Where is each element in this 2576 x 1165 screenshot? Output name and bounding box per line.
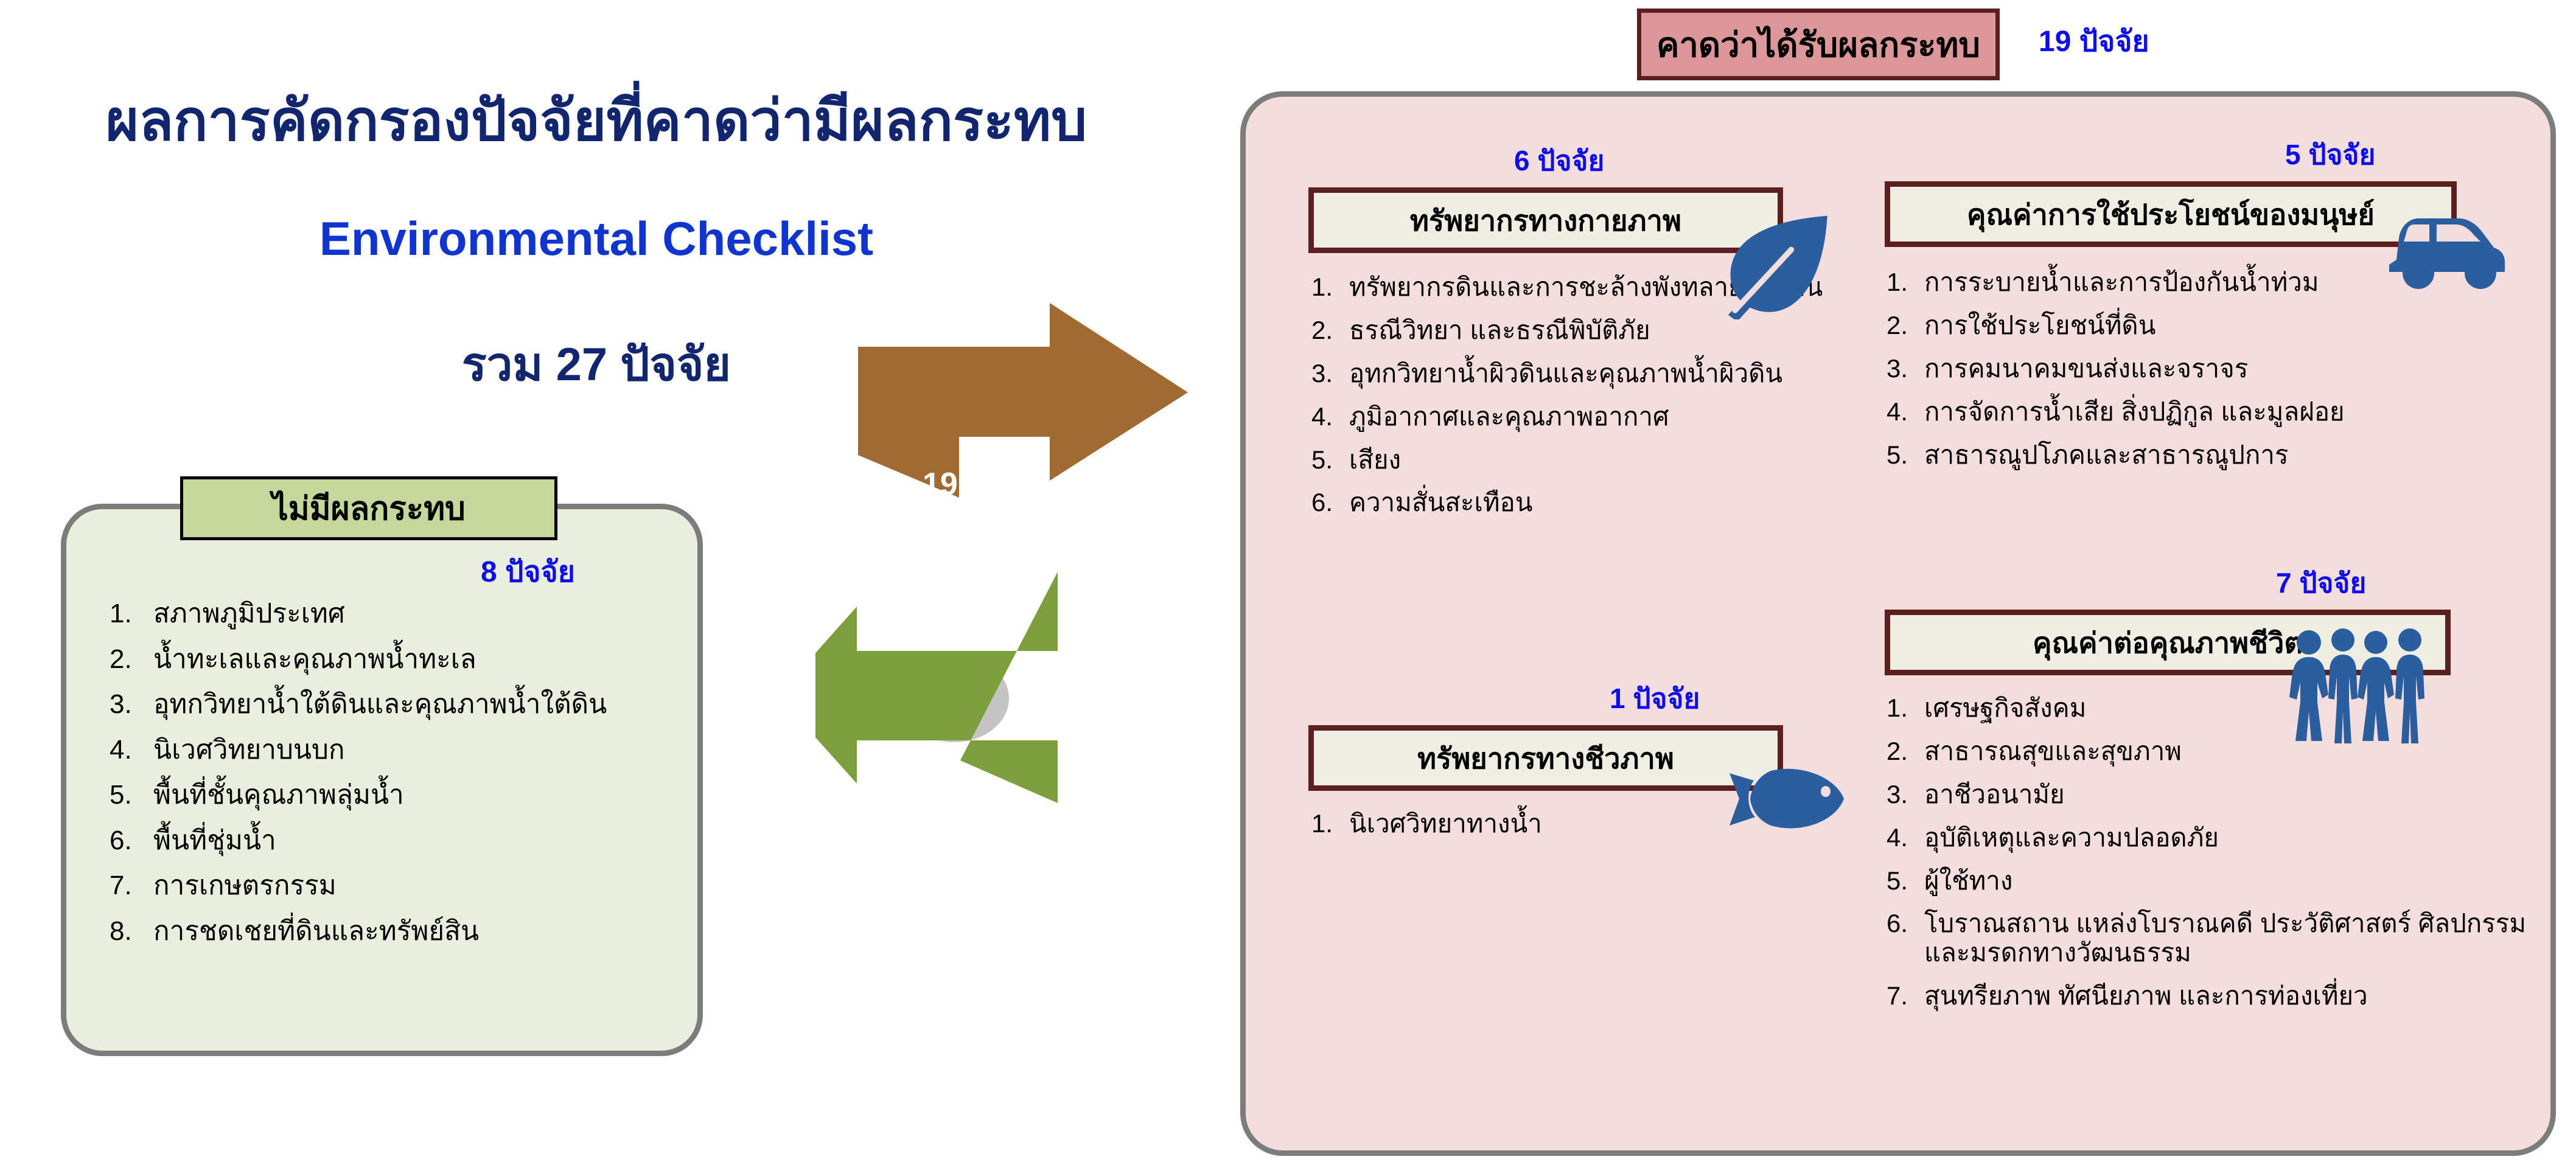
list-item: 5.ผู้ใช้ทาง — [1887, 866, 2544, 895]
list-item: 4.อุบัติเหตุและความปลอดภัย — [1887, 823, 2544, 852]
no-impact-header: ไม่มีผลกระทบ — [180, 476, 557, 540]
list-item-number: 3. — [1887, 354, 1924, 383]
quality-list: 1.เศรษฐกิจสังคม 2.สาธารณสุขและสุขภาพ 3.อ… — [1887, 694, 2544, 1024]
list-item: 5.พื้นที่ชั้นคุณภาพลุ่มน้ำ — [110, 781, 657, 810]
no-impact-count-badge: 8 ปัจจัย — [481, 549, 575, 595]
impact-header: คาดว่าได้รับผลกระทบ — [1637, 9, 2000, 80]
arrow-top-label: 19 ปัจจัย — [923, 458, 1042, 509]
physical-category-box: ทรัพยากรทางกายภาพ — [1308, 187, 1783, 253]
list-item: 2.น้ำทะเลและคุณภาพน้ำทะเล — [110, 645, 657, 674]
list-item: 4.นิเวศวิทยาบนบก — [110, 736, 657, 765]
list-item-number: 3. — [1311, 359, 1349, 388]
list-item-number: 2. — [1887, 737, 1924, 766]
list-item-number: 6. — [1311, 488, 1349, 517]
list-item-number: 4. — [110, 736, 153, 765]
list-item-number: 2. — [1311, 316, 1349, 345]
list-item-number: 4. — [1887, 823, 1924, 852]
list-item-number: 4. — [1887, 397, 1924, 426]
list-item: 3.อุทกวิทยาน้ำผิวดินและคุณภาพน้ำผิวดิน — [1311, 359, 1938, 388]
list-item-number: 2. — [110, 645, 153, 674]
list-item-number: 6. — [110, 826, 153, 855]
list-item: 1.ทรัพยากรดินและการชะล้างพังทลายของดิน — [1311, 273, 1938, 302]
page-title: ผลการคัดกรองปัจจัยที่คาดว่ามีผลกระทบ — [37, 91, 1156, 151]
arrow-left-8 — [815, 572, 1058, 803]
list-item-number: 7. — [1887, 981, 1924, 1010]
list-item-number: 1. — [110, 599, 153, 628]
list-item-number: 8. — [110, 917, 153, 946]
list-item: 1.สภาพภูมิประเทศ — [110, 599, 657, 628]
list-item-label: พื้นที่ชุ่มน้ำ — [153, 826, 276, 855]
no-impact-list: 1.สภาพภูมิประเทศ 2.น้ำทะเลและคุณภาพน้ำทะ… — [110, 599, 657, 962]
list-item-number: 5. — [110, 781, 153, 810]
list-item-label: การจัดการน้ำเสีย สิ่งปฏิกูล และมูลฝอย — [1924, 397, 2345, 426]
leaf-icon — [1722, 207, 1838, 319]
impact-total-count-badge: 19 ปัจจัย — [2039, 18, 2149, 64]
list-item: 2.ธรณีวิทยา และธรณีพิบัติภัย — [1311, 316, 1938, 345]
list-item: 6.พื้นที่ชุ่มน้ำ — [110, 826, 657, 855]
list-item: 2.การใช้ประโยชน์ที่ดิน — [1887, 311, 2532, 340]
list-item: 5.สาธารณูปโภคและสาธารณูปการ — [1887, 440, 2532, 470]
list-item-label: การใช้ประโยชน์ที่ดิน — [1924, 311, 2155, 340]
list-item-label: ธรณีวิทยา และธรณีพิบัติภัย — [1349, 316, 1650, 345]
list-item-label: อุทกวิทยาน้ำใต้ดินและคุณภาพน้ำใต้ดิน — [153, 690, 607, 719]
human-count-badge: 5 ปัจจัย — [2285, 133, 2375, 177]
list-item: 3.อุทกวิทยาน้ำใต้ดินและคุณภาพน้ำใต้ดิน — [110, 690, 657, 719]
list-item: 2.สาธารณสุขและสุขภาพ — [1887, 737, 2544, 766]
list-item-label: ภูมิอากาศและคุณภาพอากาศ — [1349, 402, 1669, 431]
list-item-label: การเกษตรกรรม — [153, 871, 337, 900]
list-item-label: อาชีวอนามัย — [1924, 780, 2065, 809]
quality-count-badge: 7 ปัจจัย — [2276, 561, 2366, 605]
list-item-label: เสียง — [1349, 445, 1401, 475]
subtitle-english: Environmental Checklist — [37, 214, 1156, 264]
list-item-number: 5. — [1887, 440, 1924, 470]
list-item-number: 5. — [1311, 445, 1349, 475]
list-item-label: นิเวศวิทยาบนบก — [153, 736, 345, 765]
list-item-number: 2. — [1887, 311, 1924, 340]
bio-category-box: ทรัพยากรทางชีวภาพ — [1308, 725, 1783, 791]
list-item-number: 1. — [1311, 273, 1349, 302]
list-item-number: 1. — [1311, 809, 1349, 838]
list-item-label: สุนทรียภาพ ทัศนียภาพ และการท่องเที่ยว — [1924, 981, 2368, 1010]
list-item: 3.อาชีวอนามัย — [1887, 780, 2544, 809]
list-item: 7.สุนทรียภาพ ทัศนียภาพ และการท่องเที่ยว — [1887, 981, 2544, 1010]
cycle-arrows-svg — [815, 292, 1254, 998]
car-icon — [2386, 204, 2507, 295]
list-item: 4.ภูมิอากาศและคุณภาพอากาศ — [1311, 402, 1938, 431]
human-category-box: คุณค่าการใช้ประโยชน์ของมนุษย์ — [1885, 181, 2457, 247]
list-item: 8.การชดเชยที่ดินและทรัพย์สิน — [110, 917, 657, 946]
list-item-label: ผู้ใช้ทาง — [1924, 866, 2012, 895]
list-item-number: 1. — [1887, 268, 1924, 297]
list-item-number: 3. — [1887, 780, 1924, 809]
list-item-label: การระบายน้ำและการป้องกันน้ำท่วม — [1924, 268, 2319, 297]
list-item-label: นิเวศวิทยาทางน้ำ — [1349, 809, 1542, 838]
list-item-number: 5. — [1887, 866, 1924, 895]
list-item: 6.ความสั่นสะเทือน — [1311, 488, 1938, 517]
list-item-label: เศรษฐกิจสังคม — [1924, 694, 2086, 723]
list-item-label: อุบัติเหตุและความปลอดภัย — [1924, 823, 2219, 852]
list-item-number: 6. — [1887, 909, 1924, 967]
list-item-label: น้ำทะเลและคุณภาพน้ำทะเล — [153, 645, 476, 674]
list-item-label: สาธารณสุขและสุขภาพ — [1924, 737, 2182, 766]
list-item-number: 1. — [1887, 694, 1924, 723]
bio-count-badge: 1 ปัจจัย — [1610, 676, 1700, 721]
physical-list: 1.ทรัพยากรดินและการชะล้างพังทลายของดิน 2… — [1311, 273, 1938, 531]
list-item: 1.เศรษฐกิจสังคม — [1887, 694, 2544, 723]
list-item-label: สภาพภูมิประเทศ — [153, 599, 345, 628]
list-item: 6.โบราณสถาน แหล่งโบราณคดี ประวัติศาสตร์ … — [1887, 909, 2544, 967]
list-item-label: ความสั่นสะเทือน — [1349, 488, 1532, 517]
list-item: 3.การคมนาคมขนส่งและจราจร — [1887, 354, 2532, 383]
list-item-label: โบราณสถาน แหล่งโบราณคดี ประวัติศาสตร์ ศิ… — [1924, 909, 2539, 967]
list-item-number: 4. — [1311, 402, 1349, 431]
cycle-arrows-group: 19 ปัจจัย 8 ปัจจัย — [815, 292, 1254, 998]
list-item: 7.การเกษตรกรรม — [110, 871, 657, 900]
list-item-number: 7. — [110, 871, 153, 900]
list-item-number: 3. — [110, 690, 153, 719]
list-item: 4.การจัดการน้ำเสีย สิ่งปฏิกูล และมูลฝอย — [1887, 397, 2532, 426]
list-item-label: สาธารณูปโภคและสาธารณูปการ — [1924, 440, 2289, 470]
fish-icon — [1727, 757, 1849, 843]
list-item: 5.เสียง — [1311, 445, 1938, 475]
list-item-label: พื้นที่ชั้นคุณภาพลุ่มน้ำ — [153, 781, 404, 810]
human-list: 1.การระบายน้ำและการป้องกันน้ำท่วม 2.การใ… — [1887, 268, 2532, 483]
list-item-label: การชดเชยที่ดินและทรัพย์สิน — [153, 917, 479, 946]
physical-count-badge: 6 ปัจจัย — [1514, 139, 1604, 183]
list-item-label: อุทกวิทยาน้ำผิวดินและคุณภาพน้ำผิวดิน — [1349, 359, 1782, 388]
people-group-icon — [2288, 627, 2440, 748]
arrow-bottom-label: 8 ปัจจัย — [820, 812, 923, 863]
list-item-label: การคมนาคมขนส่งและจราจร — [1924, 354, 2248, 383]
